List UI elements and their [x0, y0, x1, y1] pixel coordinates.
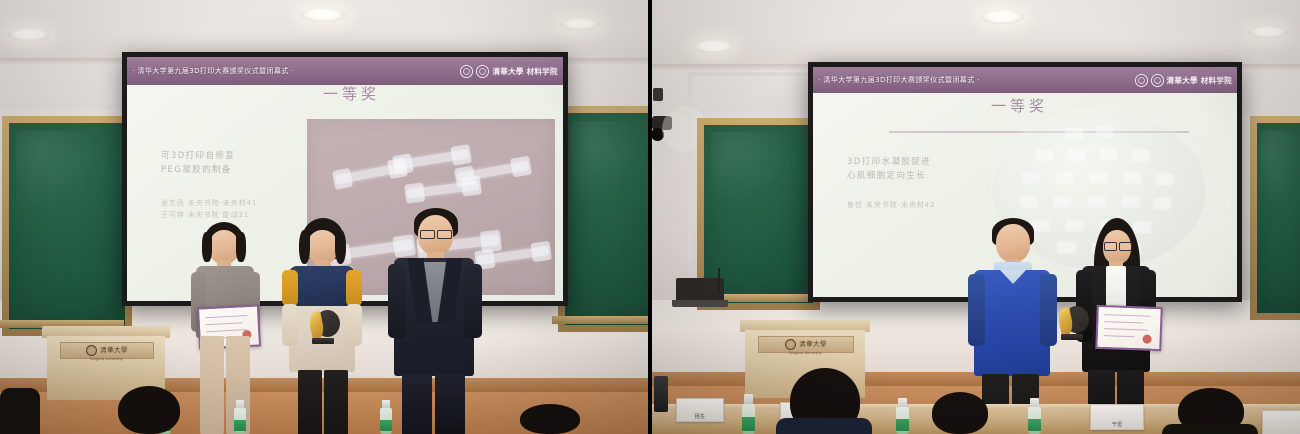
bottle-cap: [1030, 398, 1038, 407]
bottle-cap: [236, 400, 244, 408]
hydrogel-specimen: [477, 246, 550, 265]
water-bottle: [742, 394, 755, 434]
hydrogel-chip: [1124, 172, 1141, 183]
audience-shoulder: [776, 418, 872, 434]
arm-left: [968, 274, 985, 346]
hydrogel-chip: [1154, 198, 1171, 209]
person-presenter-female: [188, 222, 266, 434]
trophy-left: [306, 310, 340, 350]
prize-title-left: 一等奖: [323, 83, 380, 104]
laptop-lid: [676, 278, 724, 300]
glasses-icon: [1104, 242, 1117, 251]
tsinghua-seal-icon: [86, 345, 97, 356]
hydrogel-chip: [1096, 126, 1113, 137]
board-sheen: [711, 132, 787, 203]
ceiling-downlight: [8, 28, 50, 41]
chalkboard-far-right: [1250, 116, 1300, 320]
torso-blue-sweater: [974, 270, 1050, 376]
trophy-base: [312, 338, 334, 344]
person-presenter-male: [388, 208, 484, 434]
bottle-label: [380, 420, 392, 432]
leg: [435, 374, 465, 434]
lectern-microphone: [718, 268, 720, 294]
screenshot-root: · 清华大学第九届3D打印大赛颁奖仪式暨闭幕式 · 清華大學 材料学院 一等奖 …: [0, 0, 1300, 434]
tsinghua-seal-icon: [1135, 74, 1148, 87]
thermos-flask: [654, 376, 668, 412]
award-photo-left: · 清华大学第九届3D打印大赛颁奖仪式暨闭幕式 · 清華大學 材料学院 一等奖 …: [0, 0, 650, 434]
audience-shoulder: [1162, 424, 1258, 434]
tsinghua-seal-icon: [785, 339, 796, 350]
wall-conduit: [688, 72, 692, 262]
head: [307, 230, 338, 264]
chalkboard-left: [2, 116, 132, 336]
hydrogel-chip: [1058, 242, 1075, 253]
person-student-awardee: [280, 218, 366, 434]
chalkboard-tray: [552, 316, 650, 324]
glasses-icon: [437, 230, 452, 239]
hydrogel-chip: [1036, 150, 1053, 161]
trophy-base: [1061, 334, 1083, 340]
certificate-line: [206, 329, 247, 332]
prize-title-right: 一等奖: [991, 95, 1048, 116]
head: [996, 224, 1030, 262]
leg: [298, 370, 322, 434]
slide-logo: 清華大學 材料学院: [1135, 74, 1232, 87]
head: [209, 230, 239, 264]
hair-side: [236, 232, 246, 262]
project-title-left: 可3D打印自修复 PEG凝胶的制备: [161, 149, 321, 178]
ceiling-downlight: [560, 18, 600, 30]
certificate-line: [205, 315, 247, 318]
hydrogel-chip: [1100, 149, 1117, 160]
slide-logo-text: 清華大學 材料学院: [1167, 75, 1232, 86]
certificate-line: [206, 322, 243, 325]
glasses-icon: [1119, 242, 1132, 251]
panel-divider: [648, 0, 652, 434]
hydrogel-chip: [1020, 196, 1037, 207]
leg: [324, 370, 348, 434]
namecard: [1262, 410, 1300, 434]
ceiling-downlight: [980, 10, 1024, 24]
bottle-cap: [744, 394, 752, 404]
hydrogel-chip: [1056, 172, 1073, 183]
certificate-line: [1105, 314, 1151, 317]
hydrogel-chip: [1068, 150, 1085, 161]
materials-school-seal-icon: [476, 65, 489, 78]
podium-plaque-en: Tsinghua University: [60, 357, 152, 361]
ceiling: [650, 0, 1300, 70]
jacket-sleeve-yellow-right: [346, 270, 362, 306]
water-bottle: [380, 400, 392, 434]
certificate-line: [1104, 335, 1135, 337]
jacket-sleeve-cream-left: [282, 304, 298, 346]
leg: [402, 374, 432, 434]
podium-plaque-cn: 清華大學: [799, 341, 827, 348]
laptop-base: [672, 300, 728, 307]
arm-right: [464, 264, 482, 338]
hydrogel-chip: [1066, 128, 1083, 139]
chalkboard-right: [558, 106, 650, 332]
certificate-line: [1104, 328, 1147, 331]
jacket-sleeve-yellow-left: [282, 270, 298, 306]
slide-banner-title: · 清华大学第九届3D打印大赛颁奖仪式暨闭幕式 ·: [132, 66, 294, 76]
bottle-label: [896, 419, 909, 431]
hydrogel-chip: [1022, 172, 1039, 183]
project-title-right: 3D打印水凝胶促进 心肌细胞定向生长: [847, 155, 1007, 184]
hair-side: [335, 230, 346, 264]
glasses-icon: [420, 230, 435, 239]
bottle-label: [234, 420, 246, 432]
legs: [298, 370, 350, 434]
leg: [200, 336, 224, 434]
certificate-line: [1104, 321, 1142, 323]
hydrogel-chip: [1122, 196, 1139, 207]
hydrogel-specimen: [407, 181, 480, 199]
bottle-label: [1028, 419, 1041, 431]
hydrogel-specimen: [395, 149, 469, 169]
podium-plaque-en: Tsinghua University: [758, 351, 852, 355]
hair-side: [202, 232, 212, 262]
water-bottle: [234, 400, 246, 434]
podium-plaque-cn: 清華大學: [100, 347, 128, 354]
hydrogel-chip: [1054, 196, 1071, 207]
namecard: 扬生: [676, 398, 724, 422]
wall-speaker: [653, 88, 663, 101]
arm-right: [1040, 274, 1057, 346]
hydrogel-chip: [1090, 172, 1107, 183]
audience-shoulder: [0, 388, 40, 434]
board-sheen: [571, 121, 638, 206]
hydrogel-chip: [1088, 196, 1105, 207]
water-bottle: [896, 398, 909, 434]
legs: [402, 374, 468, 434]
arm-left: [388, 264, 406, 338]
ceiling-downlight: [694, 40, 734, 53]
namecard-text: 干坦: [1091, 421, 1143, 428]
audience-head: [118, 386, 180, 434]
ceiling-downlight: [1248, 26, 1288, 38]
water-bottle: [1028, 398, 1041, 434]
bottle-cap: [898, 398, 906, 407]
bottle-label: [742, 417, 755, 431]
hair-side: [299, 230, 310, 264]
materials-school-seal-icon: [1151, 74, 1164, 87]
board-sheen: [16, 131, 97, 213]
audience-head: [932, 392, 988, 434]
audience-head: [520, 404, 580, 434]
certificate-right: [1095, 305, 1162, 351]
namecard: 干坦: [1090, 404, 1144, 430]
tsinghua-seal-icon: [460, 65, 473, 78]
jacket-sleeve-cream-right: [346, 304, 362, 346]
person-student-awardee-right: [1074, 218, 1160, 434]
award-photo-right: · 清华大学第九届3D打印大赛颁奖仪式暨闭幕式 · 清華大學 材料学院 一等奖 …: [650, 0, 1300, 434]
namecard-text: 扬生: [677, 413, 723, 420]
slide-logo: 清華大學 材料学院: [460, 65, 557, 78]
slide-banner: · 清华大学第九届3D打印大赛颁奖仪式暨闭幕式 · 清華大學 材料学院: [813, 67, 1237, 93]
certificate-seal-icon: [1142, 334, 1151, 343]
ceiling-downlight: [300, 8, 346, 22]
slide-banner: · 清华大学第九届3D打印大赛颁奖仪式暨闭幕式 · 清華大學 材料学院: [127, 57, 563, 85]
slide-banner-title: · 清华大学第九届3D打印大赛颁奖仪式暨闭幕式 ·: [818, 75, 980, 85]
slide-logo-text: 清華大學 材料学院: [492, 66, 557, 77]
hydrogel-chip: [1132, 150, 1149, 161]
wall-conduit: [688, 72, 808, 76]
board-sheen: [1260, 131, 1296, 207]
trophy-right: [1056, 306, 1090, 346]
bottle-cap: [382, 400, 390, 408]
hydrogel-chip: [1156, 174, 1173, 185]
